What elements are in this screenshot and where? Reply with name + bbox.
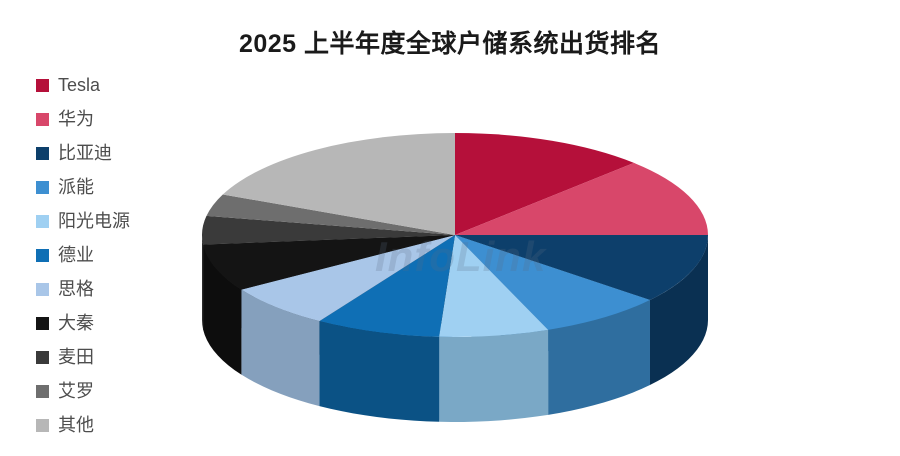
legend-item-label: 艾罗 <box>58 382 94 400</box>
legend-swatch-icon <box>36 351 49 364</box>
legend-item-label: 德业 <box>58 246 94 264</box>
legend-item[interactable]: 华为 <box>36 102 201 136</box>
legend-item[interactable]: 其他 <box>36 408 201 442</box>
pie-chart-svg <box>190 110 730 440</box>
legend-item-label: 麦田 <box>58 348 94 366</box>
legend-swatch-icon <box>36 419 49 432</box>
pie-top-faces <box>202 133 708 337</box>
legend-swatch-icon <box>36 283 49 296</box>
pie-slice-side <box>319 321 439 422</box>
legend-item[interactable]: 派能 <box>36 170 201 204</box>
pie-slice-side <box>439 330 548 422</box>
legend-item[interactable]: 德业 <box>36 238 201 272</box>
legend-item[interactable]: 麦田 <box>36 340 201 374</box>
chart-legend: Tesla华为比亚迪派能阳光电源德业思格大秦麦田艾罗其他 <box>36 68 201 442</box>
legend-item[interactable]: Tesla <box>36 68 201 102</box>
legend-swatch-icon <box>36 181 49 194</box>
legend-item-label: 比亚迪 <box>58 144 112 162</box>
legend-swatch-icon <box>36 215 49 228</box>
legend-item[interactable]: 阳光电源 <box>36 204 201 238</box>
legend-item-label: 华为 <box>58 110 94 128</box>
legend-item-label: 派能 <box>58 178 94 196</box>
legend-item-label: 大秦 <box>58 314 94 332</box>
legend-item[interactable]: 艾罗 <box>36 374 201 408</box>
legend-swatch-icon <box>36 113 49 126</box>
legend-item-label: 阳光电源 <box>58 212 130 230</box>
legend-item-label: Tesla <box>58 76 100 94</box>
legend-swatch-icon <box>36 317 49 330</box>
pie-slice-side <box>202 235 203 330</box>
legend-item-label: 思格 <box>58 280 94 298</box>
legend-swatch-icon <box>36 147 49 160</box>
chart-canvas: 2025 上半年度全球户储系统出货排名 Tesla华为比亚迪派能阳光电源德业思格… <box>0 0 900 456</box>
page-title: 2025 上半年度全球户储系统出货排名 <box>0 24 900 60</box>
legend-swatch-icon <box>36 249 49 262</box>
legend-item[interactable]: 比亚迪 <box>36 136 201 170</box>
legend-item[interactable]: 思格 <box>36 272 201 306</box>
legend-swatch-icon <box>36 79 49 92</box>
legend-item[interactable]: 大秦 <box>36 306 201 340</box>
pie-chart <box>190 110 730 440</box>
legend-item-label: 其他 <box>58 416 94 434</box>
legend-swatch-icon <box>36 385 49 398</box>
